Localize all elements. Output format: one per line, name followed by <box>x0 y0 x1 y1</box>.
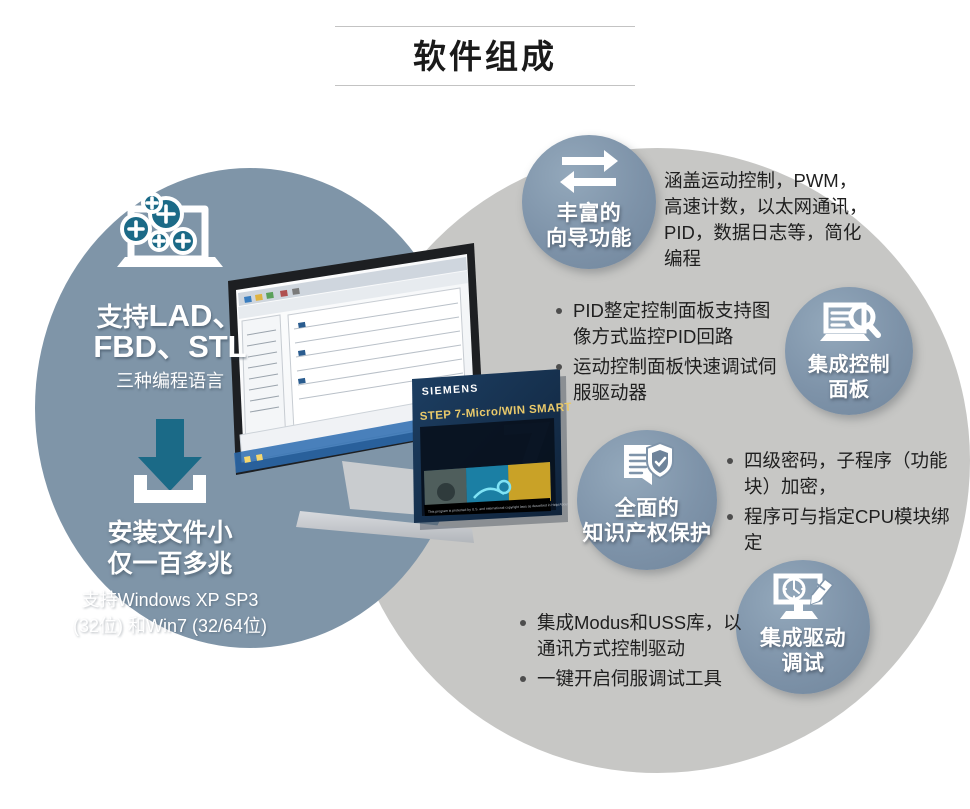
badge-panel-line1: 集成控制 <box>808 354 890 376</box>
install-line2: 仅一百多兆 <box>107 550 232 578</box>
infographic-canvas: 软件组成 <box>0 0 970 809</box>
list-item: 程序可与指定CPU模块绑定 <box>727 504 952 556</box>
badge-wizard-line2: 向导功能 <box>546 227 632 250</box>
page-header: 软件组成 <box>0 26 970 86</box>
left-feature-column: 支持LAD、 FBD、STL 三种编程语言 安装文件小 仅一百多兆 支持Wind… <box>35 185 305 639</box>
download-arrow-icon <box>120 415 220 510</box>
header-rule-top <box>335 26 635 27</box>
badge-ip-protection-label: 全面的 知识产权保护 <box>583 496 712 546</box>
badge-wizard-line1: 丰富的 <box>557 202 622 225</box>
control-panel-bullets: PID整定控制面板支持图像方式监控PID回路 运动控制面板快速调试伺服驱动器 <box>556 298 786 410</box>
languages-prefix: 支持 <box>97 302 149 332</box>
badge-drive-line2: 调试 <box>782 652 825 675</box>
badge-ip-line2: 知识产权保护 <box>583 522 712 545</box>
install-line1: 安装文件小 <box>107 519 232 547</box>
wizard-desc-line-2: 高速计数，以太网通讯， <box>664 194 954 220</box>
header-rule-bottom <box>335 85 635 86</box>
languages-line2: FBD、STL <box>93 329 246 364</box>
badge-control-panel-label: 集成控制 面板 <box>808 353 890 403</box>
languages-heading: 支持LAD、 FBD、STL <box>35 301 305 363</box>
languages-line1: LAD、 <box>149 298 244 333</box>
badge-drive-label: 集成驱动 调试 <box>760 626 846 676</box>
badge-rich-wizard[interactable]: 丰富的 向导功能 <box>522 135 656 269</box>
languages-subtext: 三种编程语言 <box>35 367 305 393</box>
badge-ip-protection[interactable]: 全面的 知识产权保护 <box>577 430 717 570</box>
os-support-line2: (32位) 和Win7 (32/64位) <box>73 616 267 636</box>
document-shield-icon <box>618 442 676 494</box>
wizard-desc-line-1: 涵盖运动控制，PWM， <box>664 168 954 194</box>
laptop-plus-icon <box>95 185 245 295</box>
badge-integrated-control-panel[interactable]: 集成控制 面板 <box>785 287 913 415</box>
wizard-description: 涵盖运动控制，PWM， 高速计数，以太网通讯， PID，数据日志等，简化 编程 <box>664 168 954 272</box>
os-support-line1: 支持Windows XP SP3 <box>82 590 259 610</box>
os-support-text: 支持Windows XP SP3 (32位) 和Win7 (32/64位) <box>35 587 305 639</box>
badge-drive-line1: 集成驱动 <box>760 627 846 650</box>
list-item: 四级密码，子程序（功能块）加密， <box>727 448 952 500</box>
page-title: 软件组成 <box>0 37 970 77</box>
list-item: 一键开启伺服调试工具 <box>520 666 760 692</box>
wizard-desc-line-4: 编程 <box>664 246 954 272</box>
drive-commissioning-bullets: 集成Modus和USS库，以通讯方式控制驱动 一键开启伺服调试工具 <box>520 610 760 696</box>
two-way-arrows-icon <box>558 147 620 199</box>
list-item: PID整定控制面板支持图像方式监控PID回路 <box>556 298 786 350</box>
wizard-desc-line-3: PID，数据日志等，简化 <box>664 220 954 246</box>
list-item: 集成Modus和USS库，以通讯方式控制驱动 <box>520 610 760 662</box>
badge-panel-line2: 面板 <box>829 379 870 401</box>
software-box: SIEMENS STEP 7-Micro/WIN SMART This prog… <box>404 365 574 520</box>
laptop-magnifier-icon <box>818 299 880 351</box>
monitor-gauge-pen-icon <box>772 572 834 624</box>
ip-protection-bullets: 四级密码，子程序（功能块）加密， 程序可与指定CPU模块绑定 <box>727 448 952 560</box>
badge-ip-line1: 全面的 <box>615 497 680 520</box>
list-item: 运动控制面板快速调试伺服驱动器 <box>556 354 786 406</box>
badge-rich-wizard-label: 丰富的 向导功能 <box>546 201 632 251</box>
install-size-heading: 安装文件小 仅一百多兆 <box>35 518 305 580</box>
